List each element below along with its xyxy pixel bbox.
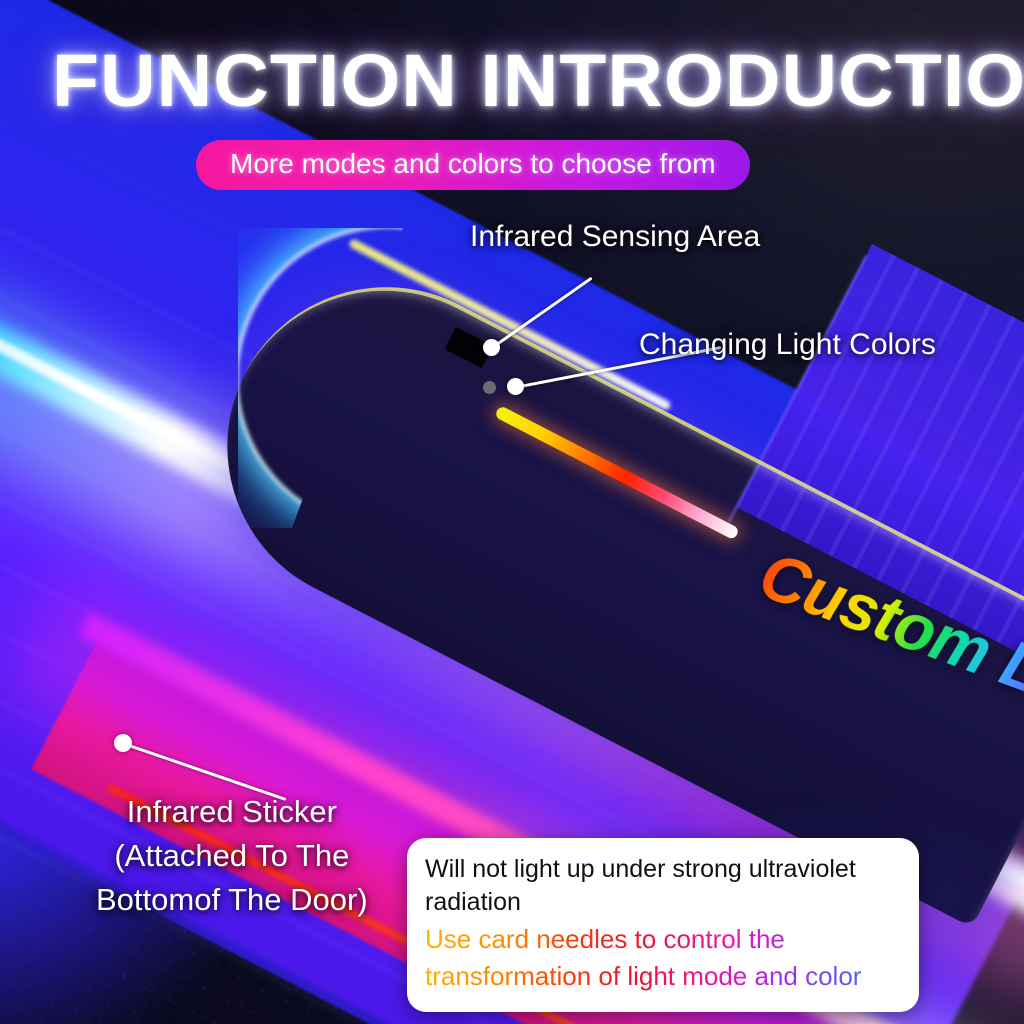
page-title: FUNCTION INTRODUCTION: [52, 44, 1024, 118]
status-indicator-dot: [483, 381, 496, 394]
callout-dot-changing-light-colors: [507, 378, 524, 395]
info-note-line-4: transformation of light mode and color: [425, 960, 901, 994]
info-note-box: Will not light up under strong ultraviol…: [407, 838, 919, 1012]
product-infographic: Custom L FUNCTION INTRODUCTION More mode…: [0, 0, 1024, 1024]
info-note-line-1: Will not light up under strong ultraviol…: [425, 854, 901, 885]
info-note-line-3: Use card needles to control the: [425, 923, 901, 957]
callout-dot-infrared-sensing-area: [483, 339, 500, 356]
info-note-line-2: radiation: [425, 887, 901, 918]
subtitle-badge: More modes and colors to choose from: [196, 140, 750, 190]
infrared-sticker-line-2: (Attached To The: [96, 834, 368, 878]
infrared-sticker-line-1: Infrared Sticker: [96, 790, 368, 834]
callout-label-changing-light-colors: Changing Light Colors: [639, 328, 936, 362]
callout-label-infrared-sticker: Infrared Sticker (Attached To The Bottom…: [96, 790, 368, 922]
callout-label-infrared-sensing-area: Infrared Sensing Area: [470, 220, 760, 254]
infrared-sticker-line-3: Bottomof The Door): [96, 878, 368, 922]
callout-dot-infrared-sticker: [114, 734, 132, 752]
